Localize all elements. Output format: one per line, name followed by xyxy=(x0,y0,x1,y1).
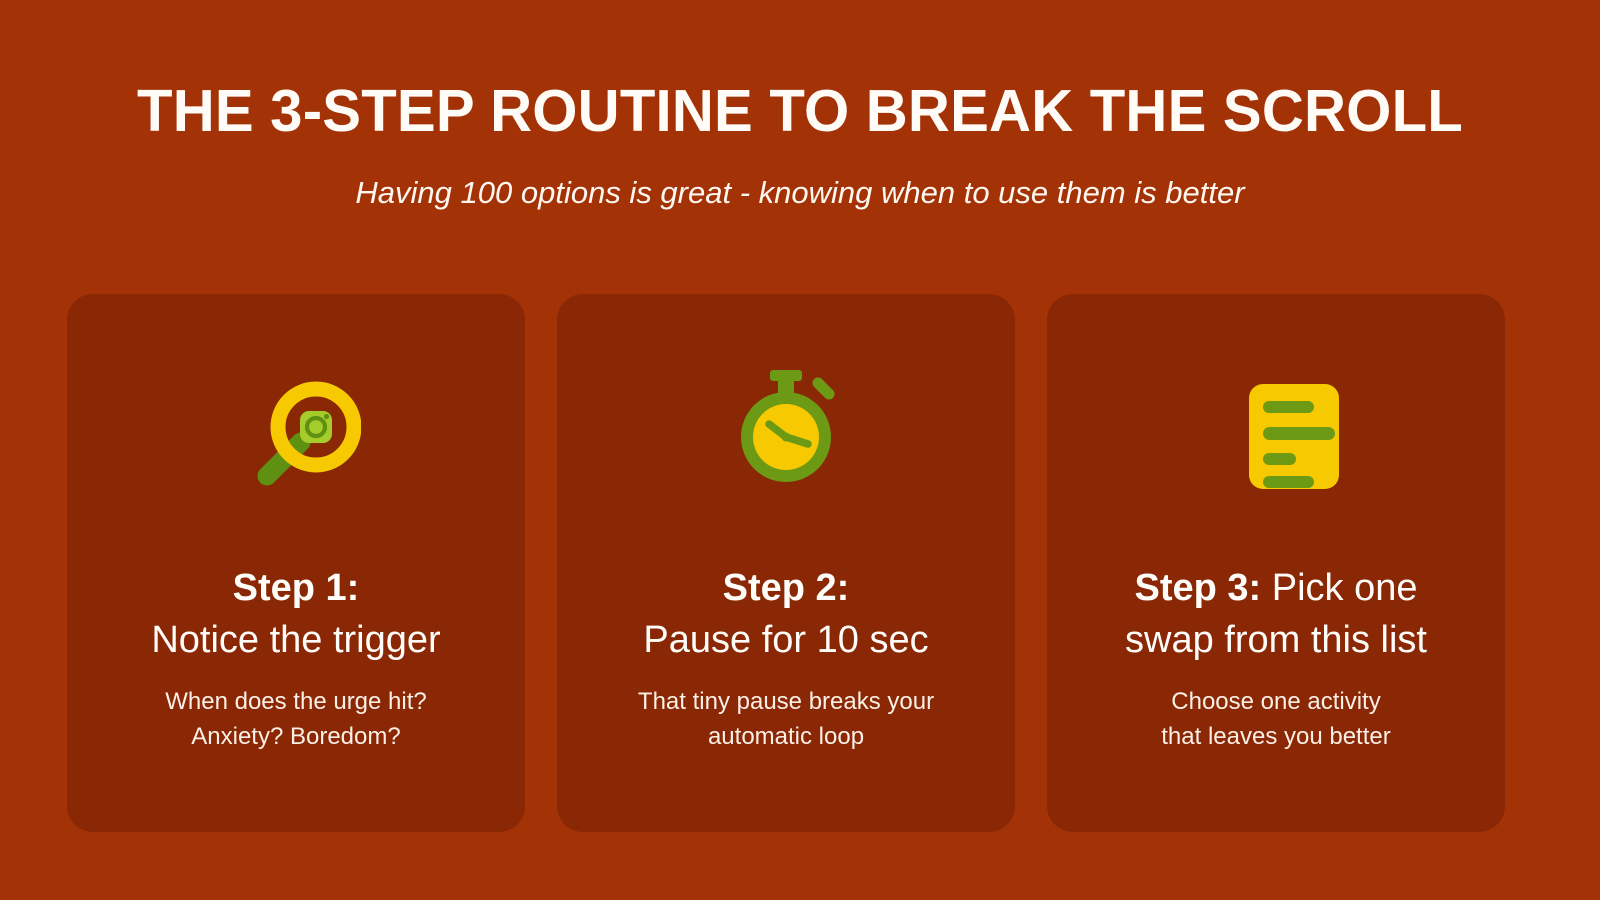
step-description-line-1: Choose one activity xyxy=(1171,688,1380,715)
page-subtitle: Having 100 options is great - knowing wh… xyxy=(0,141,1600,208)
step-description: Choose one activity that leaves you bett… xyxy=(1065,666,1487,754)
step-description-line-2: that leaves you better xyxy=(1161,723,1390,750)
step-card-2[interactable]: Step 2: Pause for 10 sec That tiny pause… xyxy=(557,294,1015,832)
step-description-line-2: automatic loop xyxy=(708,723,864,750)
step-card-1[interactable]: Step 1: Notice the trigger When does the… xyxy=(67,294,525,832)
step-label: Step 1: xyxy=(233,567,360,609)
magnifier-social-icon xyxy=(67,294,525,564)
step-description: That tiny pause breaks your automatic lo… xyxy=(575,666,997,754)
step-title: Step 2: Pause for 10 sec xyxy=(575,562,997,666)
step-card-1-text: Step 1: Notice the trigger When does the… xyxy=(67,562,525,754)
step-label: Step 3: xyxy=(1134,567,1261,609)
step-description-line-1: When does the urge hit? xyxy=(165,688,427,715)
step-card-3[interactable]: Step 3: Pick one swap from this list Cho… xyxy=(1047,294,1505,832)
step-description-line-1: That tiny pause breaks your xyxy=(638,688,934,715)
slide-root: THE 3-STEP ROUTINE TO BREAK THE SCROLL H… xyxy=(0,0,1600,900)
step-headline: Notice the trigger xyxy=(151,619,440,661)
step-card-3-text: Step 3: Pick one swap from this list Cho… xyxy=(1047,562,1505,754)
list-note-icon xyxy=(1047,294,1505,564)
step-label: Step 2: xyxy=(723,567,850,609)
step-card-2-text: Step 2: Pause for 10 sec That tiny pause… xyxy=(557,562,1015,754)
step-title: Step 3: Pick one swap from this list xyxy=(1065,562,1487,666)
page-title: THE 3-STEP ROUTINE TO BREAK THE SCROLL xyxy=(12,82,1588,141)
steps-container: Step 1: Notice the trigger When does the… xyxy=(67,294,1505,832)
step-title: Step 1: Notice the trigger xyxy=(85,562,507,666)
step-headline: Pause for 10 sec xyxy=(643,619,928,661)
stopwatch-icon xyxy=(557,294,1015,564)
header: THE 3-STEP ROUTINE TO BREAK THE SCROLL H… xyxy=(0,0,1600,208)
step-description-line-2: Anxiety? Boredom? xyxy=(191,723,400,750)
step-description: When does the urge hit? Anxiety? Boredom… xyxy=(85,666,507,754)
